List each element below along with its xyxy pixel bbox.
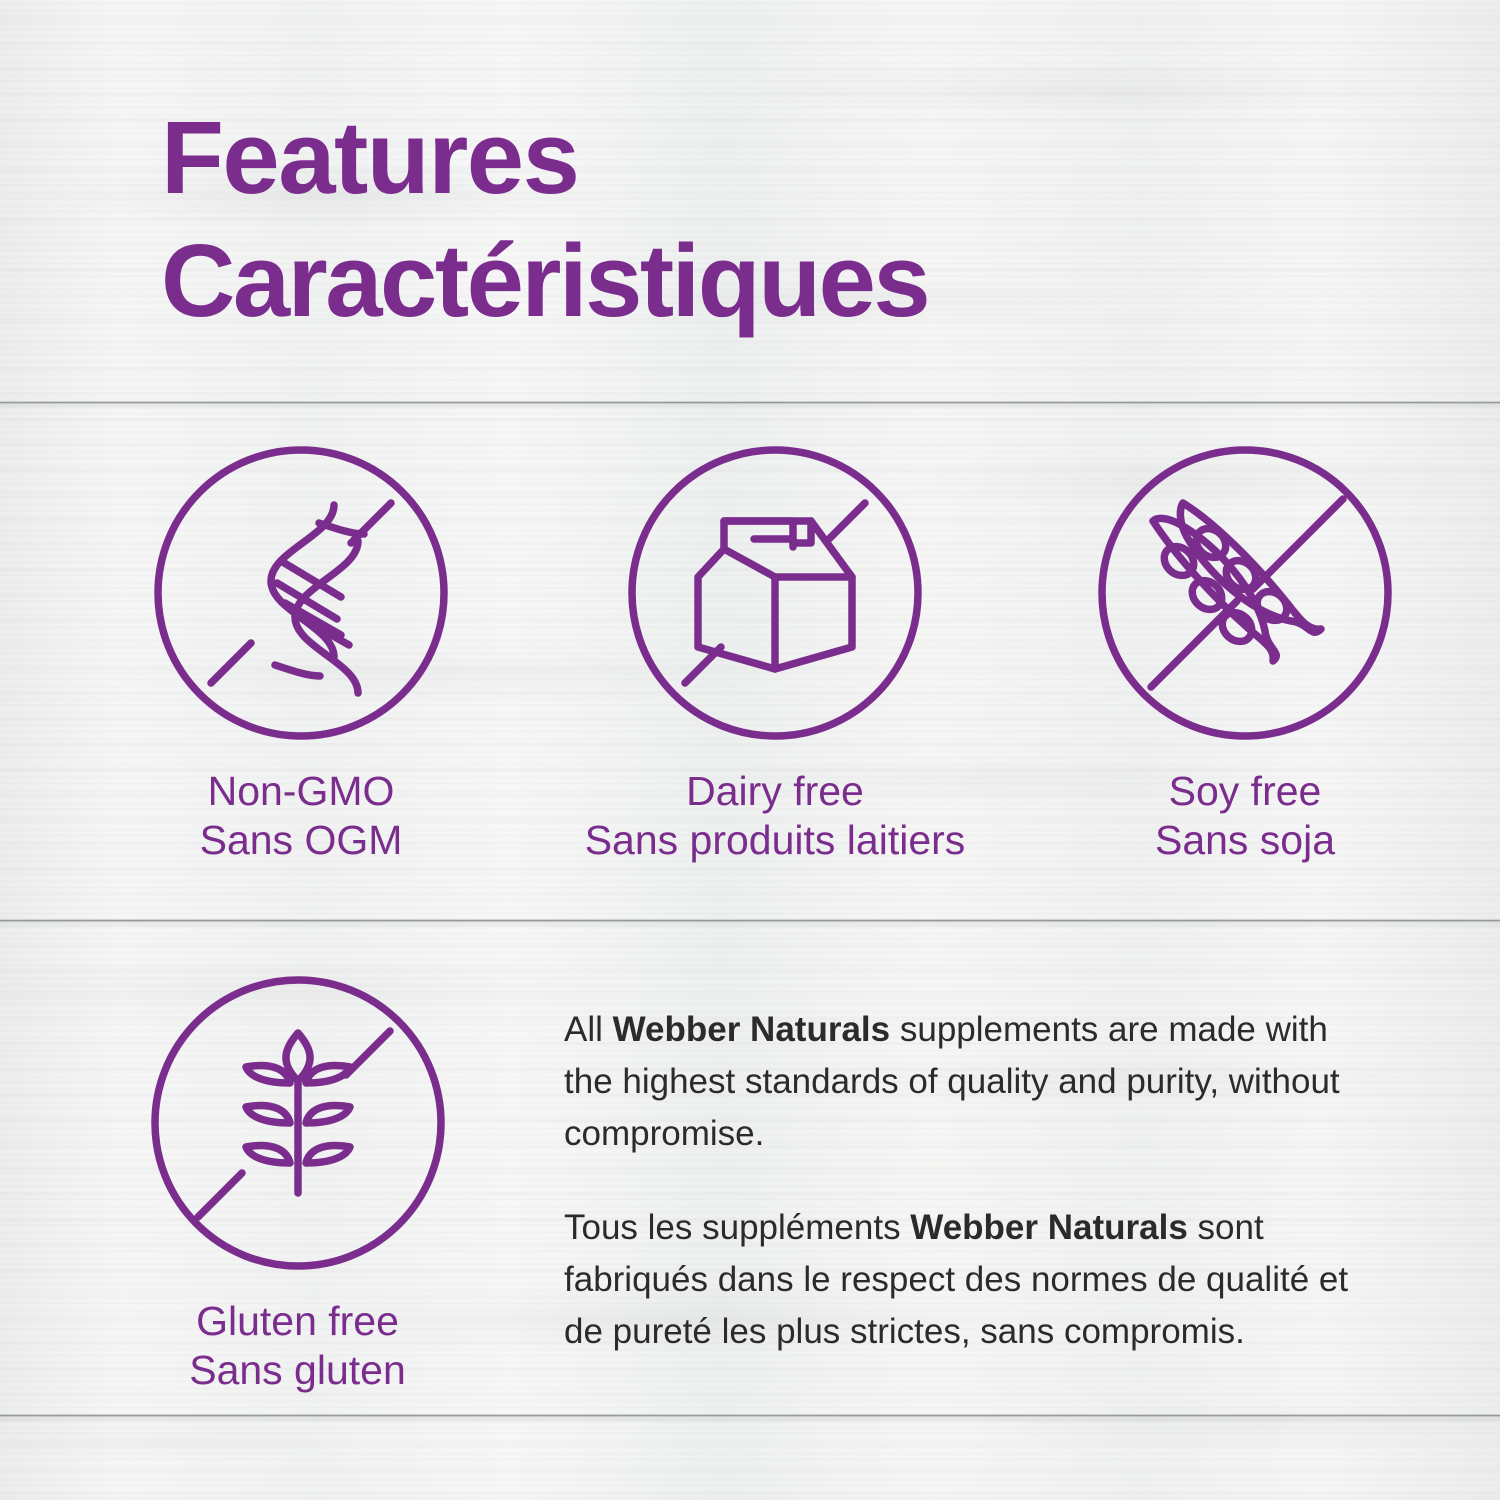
feature-label-fr: Sans gluten (35, 1346, 560, 1395)
plank-seam-2 (0, 919, 1500, 922)
page-title-line-en: Features (161, 100, 578, 215)
no-soy-bean-pods-icon (1095, 443, 1395, 743)
no-gmo-dna-icon (151, 443, 451, 743)
features-infographic: Features Caractéristiques Non-GMO Sans O… (0, 0, 1500, 1500)
feature-label-en: Gluten free (35, 1297, 560, 1346)
copy-en-before: All (564, 1010, 613, 1049)
feature-label-en: Dairy free (515, 767, 1035, 816)
feature-label-fr: Sans produits laitiers (515, 816, 1035, 865)
feature-caption: Dairy free Sans produits laitiers (515, 767, 1035, 865)
feature-label-fr: Sans OGM (41, 816, 561, 865)
copy-fr-before: Tous les suppléments (564, 1208, 910, 1247)
feature-label-en: Non-GMO (41, 767, 561, 816)
brand-copy: All Webber Naturals supplements are made… (564, 1004, 1364, 1358)
no-gluten-wheat-icon (148, 973, 448, 1273)
feature-label-fr: Sans soja (985, 816, 1500, 865)
feature-dairy-free: Dairy free Sans produits laitiers (515, 443, 1035, 865)
plank-seam-1 (0, 401, 1500, 404)
feature-soy-free: Soy free Sans soja (985, 443, 1500, 865)
feature-label-en: Soy free (985, 767, 1500, 816)
page-title-line-fr: Caractéristiques (161, 223, 928, 338)
brand-copy-fr: Tous les suppléments Webber Naturals son… (564, 1202, 1364, 1358)
no-dairy-milk-carton-icon (625, 443, 925, 743)
feature-caption: Gluten free Sans gluten (35, 1297, 560, 1395)
copy-fr-brand: Webber Naturals (910, 1208, 1188, 1247)
feature-caption: Non-GMO Sans OGM (41, 767, 561, 865)
feature-non-gmo: Non-GMO Sans OGM (41, 443, 561, 865)
plank-seam-3 (0, 1414, 1500, 1417)
copy-en-brand: Webber Naturals (613, 1010, 891, 1049)
page-title: Features Caractéristiques (161, 96, 928, 342)
brand-copy-en: All Webber Naturals supplements are made… (564, 1004, 1364, 1160)
feature-gluten-free: Gluten free Sans gluten (35, 973, 560, 1395)
feature-caption: Soy free Sans soja (985, 767, 1500, 865)
